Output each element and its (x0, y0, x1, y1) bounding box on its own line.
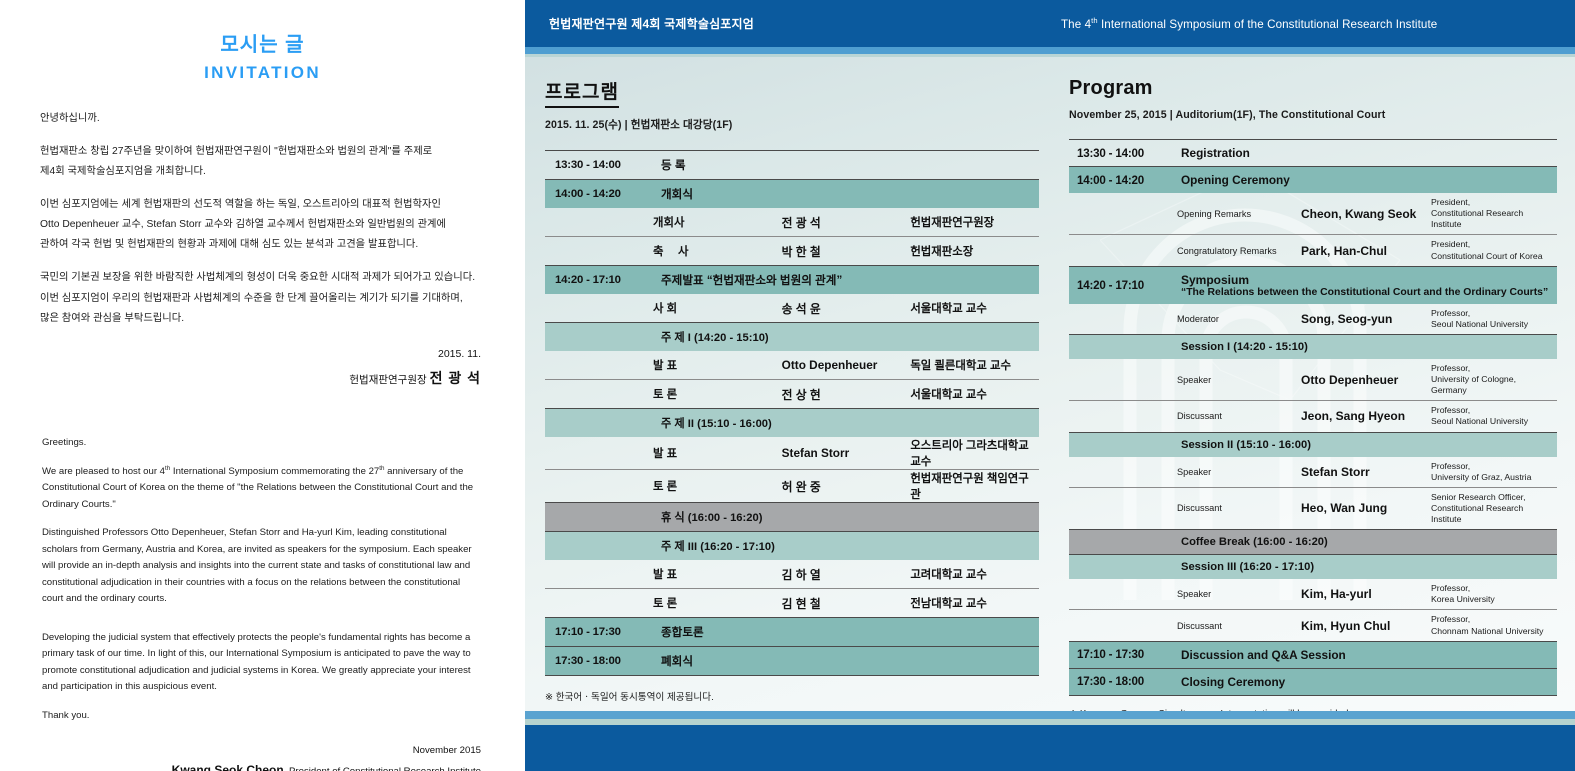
row-name: Kim, Hyun Chul (1301, 610, 1429, 641)
row-time: 17:30 - 18:00 (1069, 668, 1173, 695)
program-note-korean: ※ 한국어ㆍ독일어 동시통역이 제공됩니다. (545, 689, 1039, 703)
program-row: 13:30 - 14:00Registration (1069, 140, 1557, 167)
row-role: 발 표 (653, 351, 782, 380)
affiliation-line-2: Constitutional Research Institute (1431, 208, 1551, 230)
program-row: DiscussantKim, Hyun ChulProfessor,Chonna… (1069, 610, 1557, 641)
english-sign-date: November 2015 (0, 742, 481, 759)
program-row: ModeratorSong, Seog-yunProfessor,Seoul N… (1069, 304, 1557, 335)
program-panel: 헌법재판연구원 제4회 국제학술심포지엄 The 4th Internation… (525, 0, 1575, 771)
row-label: 주제발표 “헌법재판소와 법원의 관계” (653, 266, 1039, 295)
row-time: 14:20 - 17:10 (545, 266, 653, 295)
row-session-label: Session III (16:20 - 17:10) (1173, 555, 1557, 580)
program-title-korean: 프로그램 (545, 77, 619, 108)
header-title-english: The 4th International Symposium of the C… (1061, 16, 1437, 31)
program-row: SpeakerStefan StorrProfessor,University … (1069, 457, 1557, 488)
row-indent (1069, 530, 1173, 555)
footer-accent-stripe (525, 711, 1575, 719)
affiliation-line-1: Professor, (1431, 583, 1551, 594)
program-row: 휴 식 (16:00 - 16:20) (545, 503, 1039, 532)
row-indent (545, 560, 653, 589)
row-name: 송 석 윤 (782, 294, 911, 323)
row-label: Closing Ceremony (1173, 668, 1557, 695)
row-role: 토 론 (653, 589, 782, 618)
row-role: 개회사 (653, 208, 782, 237)
program-row: 주 제 II (15:10 - 16:00) (545, 409, 1039, 438)
program-row: 17:10 - 17:30종합토론 (545, 618, 1039, 647)
header-accent-stripe (525, 47, 1575, 54)
row-time: 14:20 - 17:10 (1069, 266, 1173, 304)
korean-sign-date: 2015. 11. (0, 345, 481, 365)
program-row: 14:20 - 17:10Symposium“The Relations bet… (1069, 266, 1557, 304)
program-row: Opening RemarksCheon, Kwang SeokPresiden… (1069, 193, 1557, 235)
row-affiliation: 헌법재판연구원장 (910, 208, 1039, 237)
row-indent (545, 208, 653, 237)
english-paragraph-2: Distinguished Professors Otto Depenheuer… (42, 525, 481, 608)
row-session-label: 주 제 III (16:20 - 17:10) (653, 532, 1039, 561)
row-name: 전 광 석 (782, 208, 911, 237)
program-row: DiscussantHeo, Wan JungSenior Research O… (1069, 487, 1557, 529)
affiliation-line-2: Constitutional Research Institute (1431, 503, 1551, 525)
program-english: Program November 25, 2015 | Auditorium(1… (1057, 57, 1575, 717)
korean-sign-name: 전 광 석 (430, 370, 481, 386)
row-indent (1069, 235, 1173, 266)
program-columns: 프로그램 2015. 11. 25(수) | 헌법재판소 대강당(1F) 13:… (525, 57, 1575, 717)
row-role: Opening Remarks (1173, 193, 1301, 235)
program-table-korean: 13:30 - 14:00등 록14:00 - 14:20개회식개회사전 광 석… (545, 150, 1039, 676)
page-footer-bar (525, 725, 1575, 771)
row-name: Heo, Wan Jung (1301, 487, 1429, 529)
row-affiliation: Professor,Korea University (1429, 579, 1557, 610)
row-time: 17:10 - 17:30 (545, 618, 653, 647)
row-indent (545, 351, 653, 380)
row-name: 박 한 철 (782, 237, 911, 266)
program-row: Session II (15:10 - 16:00) (1069, 432, 1557, 457)
program-row: 축 사박 한 철헌법재판소장 (545, 237, 1039, 266)
row-name: Otto Depenheuer (1301, 359, 1429, 401)
row-role: 사 회 (653, 294, 782, 323)
row-affiliation: Professor,University of Graz, Austria (1429, 457, 1557, 488)
row-indent (1069, 359, 1173, 401)
row-affiliation: 서울대학교 교수 (910, 294, 1039, 323)
program-subtitle-english: November 25, 2015 | Auditorium(1F), The … (1069, 109, 1557, 121)
row-role: Speaker (1173, 359, 1301, 401)
row-name: Jeon, Sang Hyeon (1301, 401, 1429, 432)
affiliation-line-2: Constitutional Court of Korea (1431, 251, 1551, 262)
row-role: 발 표 (653, 437, 782, 470)
row-role: 토 론 (653, 380, 782, 409)
row-name: Otto Depenheuer (782, 351, 911, 380)
row-indent (545, 503, 653, 532)
affiliation-line-2: Seoul National University (1431, 416, 1551, 427)
program-row: SpeakerKim, Ha-yurlProfessor,Korea Unive… (1069, 579, 1557, 610)
row-indent (545, 437, 653, 470)
row-label: 종합토론 (653, 618, 1039, 647)
row-affiliation: 서울대학교 교수 (910, 380, 1039, 409)
program-row: 17:10 - 17:30Discussion and Q&A Session (1069, 641, 1557, 668)
table-bottom-border (545, 676, 1039, 677)
invitation-title-english: INVITATION (0, 63, 525, 83)
english-greeting: Greetings. (42, 435, 481, 452)
row-role: Moderator (1173, 304, 1301, 335)
korean-paragraph: 헌법재판소 창립 27주년을 맞이하여 헌법재판연구원이 "헌법재판소와 법원의… (40, 142, 483, 182)
program-row: 토 론허 완 중헌법재판연구원 책임연구관 (545, 470, 1039, 503)
row-affiliation: Senior Research Officer,Constitutional R… (1429, 487, 1557, 529)
row-affiliation: Professor,University of Cologne, Germany (1429, 359, 1557, 401)
row-affiliation: 전남대학교 교수 (910, 589, 1039, 618)
row-label: 등 록 (653, 151, 1039, 180)
program-row: 주 제 III (16:20 - 17:10) (545, 532, 1039, 561)
program-row: 13:30 - 14:00등 록 (545, 151, 1039, 180)
row-label: Symposium“The Relations between the Cons… (1173, 266, 1557, 304)
row-label: 폐회식 (653, 647, 1039, 676)
program-row: Congratulatory RemarksPark, Han-ChulPres… (1069, 235, 1557, 266)
english-thanks: Thank you. (42, 708, 481, 725)
row-role: Speaker (1173, 457, 1301, 488)
row-affiliation: Professor,Seoul National University (1429, 401, 1557, 432)
program-row: SpeakerOtto DepenheuerProfessor,Universi… (1069, 359, 1557, 401)
row-indent (545, 294, 653, 323)
row-indent (1069, 432, 1173, 457)
affiliation-line-1: Professor, (1431, 308, 1551, 319)
english-greeting-body: Greetings. We are pleased to host our 4t… (42, 435, 481, 724)
korean-sign-role: 헌법재판연구원장 (349, 374, 426, 386)
brochure-page: 모시는 글 INVITATION 안녕하십니까. 헌법재판소 창립 27주년을 … (0, 0, 1575, 771)
affiliation-line-2: University of Cologne, Germany (1431, 374, 1551, 396)
affiliation-line-1: Professor, (1431, 461, 1551, 472)
row-indent (545, 532, 653, 561)
row-name: Song, Seog-yun (1301, 304, 1429, 335)
row-break-label: Coffee Break (16:00 - 16:20) (1173, 530, 1557, 555)
row-time: 13:30 - 14:00 (545, 151, 653, 180)
row-role: Discussant (1173, 610, 1301, 641)
row-indent (545, 409, 653, 438)
row-role: Discussant (1173, 487, 1301, 529)
program-row: 개회사전 광 석헌법재판연구원장 (545, 208, 1039, 237)
row-indent (1069, 334, 1173, 359)
program-row: DiscussantJeon, Sang HyeonProfessor,Seou… (1069, 401, 1557, 432)
affiliation-line-1: Professor, (1431, 614, 1551, 625)
row-role: 축 사 (653, 237, 782, 266)
program-row: 17:30 - 18:00폐회식 (545, 647, 1039, 676)
invitation-title-korean: 모시는 글 (0, 28, 525, 57)
row-indent (1069, 401, 1173, 432)
row-role: Discussant (1173, 401, 1301, 432)
row-label: 개회식 (653, 180, 1039, 209)
program-row: 14:00 - 14:20Opening Ceremony (1069, 167, 1557, 194)
affiliation-line-2: Chonnam National University (1431, 626, 1551, 637)
row-indent (1069, 193, 1173, 235)
row-role: Speaker (1173, 579, 1301, 610)
row-label: Opening Ceremony (1173, 167, 1557, 194)
affiliation-line-2: Korea University (1431, 594, 1551, 605)
program-korean: 프로그램 2015. 11. 25(수) | 헌법재판소 대강당(1F) 13:… (525, 57, 1057, 717)
row-name: 김 현 철 (782, 589, 911, 618)
affiliation-line-1: Professor, (1431, 405, 1551, 416)
row-affiliation: Professor,Seoul National University (1429, 304, 1557, 335)
row-name: 전 상 현 (782, 380, 911, 409)
row-indent (1069, 555, 1173, 580)
row-time: 14:00 - 14:20 (545, 180, 653, 209)
program-row: Session I (14:20 - 15:10) (1069, 334, 1557, 359)
program-row: 발 표김 하 열고려대학교 교수 (545, 560, 1039, 589)
korean-paragraph: 이번 심포지엄에는 세계 헌법재판의 선도적 역할을 하는 독일, 오스트리아의… (40, 195, 483, 255)
program-row: 토 론김 현 철전남대학교 교수 (545, 589, 1039, 618)
page-header-bar: 헌법재판연구원 제4회 국제학술심포지엄 The 4th Internation… (525, 0, 1575, 47)
english-sign-name: Kwang Seok Cheon (172, 763, 284, 771)
affiliation-line-1: Professor, (1431, 363, 1551, 374)
row-session-label: Session I (14:20 - 15:10) (1173, 334, 1557, 359)
english-signature: November 2015 Kwang Seok Cheon, Presiden… (0, 742, 481, 771)
program-row: 17:30 - 18:00Closing Ceremony (1069, 668, 1557, 695)
row-indent (545, 237, 653, 266)
program-title-english: Program (1069, 77, 1557, 100)
row-time: 17:10 - 17:30 (1069, 641, 1173, 668)
table-bottom-border (1069, 695, 1557, 696)
english-paragraph-1: We are pleased to host our 4th Internati… (42, 464, 481, 514)
program-row: 발 표Stefan Storr오스트리아 그라츠대학교 교수 (545, 437, 1039, 470)
korean-paragraph: 국민의 기본권 보장을 위한 바람직한 사법체계의 형성이 더욱 중요한 시대적… (40, 268, 483, 328)
row-indent (1069, 610, 1173, 641)
row-role: 발 표 (653, 560, 782, 589)
row-name: 김 하 열 (782, 560, 911, 589)
row-name: Stefan Storr (782, 437, 911, 470)
symposium-theme: “The Relations between the Constitutiona… (1181, 287, 1557, 298)
row-affiliation: 오스트리아 그라츠대학교 교수 (910, 437, 1039, 470)
row-time: 17:30 - 18:00 (545, 647, 653, 676)
symposium-title: Symposium (1181, 273, 1557, 287)
row-session-label: 주 제 I (14:20 - 15:10) (653, 323, 1039, 352)
program-row: Coffee Break (16:00 - 16:20) (1069, 530, 1557, 555)
row-session-label: 주 제 II (15:10 - 16:00) (653, 409, 1039, 438)
row-affiliation: 고려대학교 교수 (910, 560, 1039, 589)
row-indent (1069, 579, 1173, 610)
korean-signature: 2015. 11. 헌법재판연구원장 전 광 석 (0, 345, 481, 392)
row-name: Stefan Storr (1301, 457, 1429, 488)
korean-greeting-body: 안녕하십니까. 헌법재판소 창립 27주년을 맞이하여 헌법재판연구원이 "헌법… (40, 109, 483, 329)
program-subtitle-korean: 2015. 11. 25(수) | 헌법재판소 대강당(1F) (545, 117, 1039, 132)
program-table-english: 13:30 - 14:00Registration14:00 - 14:20Op… (1069, 139, 1557, 696)
affiliation-line-2: University of Graz, Austria (1431, 472, 1551, 483)
program-row: 14:00 - 14:20개회식 (545, 180, 1039, 209)
affiliation-line-2: Seoul National University (1431, 319, 1551, 330)
affiliation-line-1: Senior Research Officer, (1431, 492, 1551, 503)
program-row: 토 론전 상 현서울대학교 교수 (545, 380, 1039, 409)
row-indent (1069, 457, 1173, 488)
row-break-label: 휴 식 (16:00 - 16:20) (653, 503, 1039, 532)
row-indent (545, 589, 653, 618)
row-indent (1069, 487, 1173, 529)
row-role: Congratulatory Remarks (1173, 235, 1301, 266)
row-affiliation: Professor,Chonnam National University (1429, 610, 1557, 641)
row-time: 14:00 - 14:20 (1069, 167, 1173, 194)
affiliation-line-1: President, (1431, 197, 1551, 208)
row-indent (1069, 304, 1173, 335)
row-affiliation: 헌법재판소장 (910, 237, 1039, 266)
program-row: 발 표Otto Depenheuer독일 쾰른대학교 교수 (545, 351, 1039, 380)
english-sign-role: , President of Constitutional Research I… (284, 766, 481, 771)
row-label: Registration (1173, 140, 1557, 167)
row-affiliation: 헌법재판연구원 책임연구관 (910, 470, 1039, 503)
english-paragraph-3: Developing the judicial system that effe… (42, 630, 481, 696)
affiliation-line-1: President, (1431, 239, 1551, 250)
row-indent (545, 470, 653, 503)
row-indent (545, 380, 653, 409)
row-name: Kim, Ha-yurl (1301, 579, 1429, 610)
korean-paragraph: 안녕하십니까. (40, 109, 483, 129)
row-name: Park, Han-Chul (1301, 235, 1429, 266)
program-row: 14:20 - 17:10주제발표 “헌법재판소와 법원의 관계” (545, 266, 1039, 295)
row-role: 토 론 (653, 470, 782, 503)
row-session-label: Session II (15:10 - 16:00) (1173, 432, 1557, 457)
row-name: Cheon, Kwang Seok (1301, 193, 1429, 235)
row-indent (545, 323, 653, 352)
program-row: Session III (16:20 - 17:10) (1069, 555, 1557, 580)
invitation-panel: 모시는 글 INVITATION 안녕하십니까. 헌법재판소 창립 27주년을 … (0, 0, 525, 771)
program-row: 사 회송 석 윤서울대학교 교수 (545, 294, 1039, 323)
header-title-korean: 헌법재판연구원 제4회 국제학술심포지엄 (549, 15, 754, 32)
row-affiliation: President,Constitutional Court of Korea (1429, 235, 1557, 266)
program-row: 주 제 I (14:20 - 15:10) (545, 323, 1039, 352)
row-time: 13:30 - 14:00 (1069, 140, 1173, 167)
row-name: 허 완 중 (782, 470, 911, 503)
row-affiliation: 독일 쾰른대학교 교수 (910, 351, 1039, 380)
row-affiliation: President,Constitutional Research Instit… (1429, 193, 1557, 235)
row-label: Discussion and Q&A Session (1173, 641, 1557, 668)
